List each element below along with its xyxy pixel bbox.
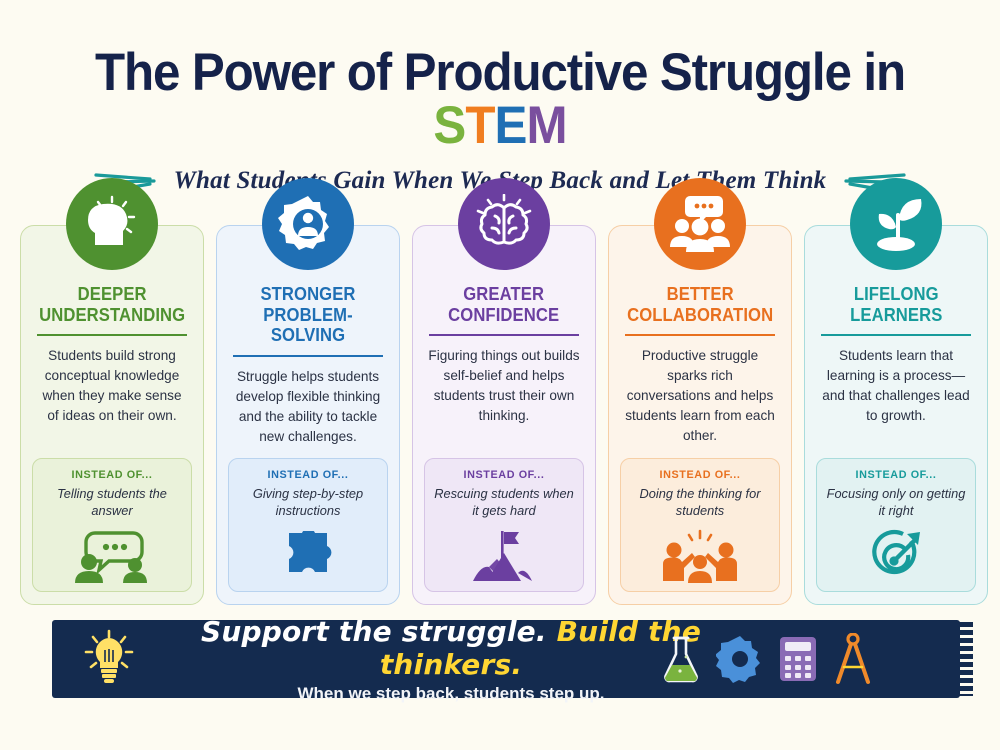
instead-of-box: INSTEAD OF... Focusing only on getting i… xyxy=(816,458,976,592)
footer-headline-white: Support the struggle. xyxy=(201,615,557,648)
card-title-line2: UNDERSTANDING xyxy=(39,304,185,325)
puzzle-piece-icon xyxy=(280,527,336,583)
group-speech-bubble-icon xyxy=(654,178,746,270)
footer-subline: When we step back, students step up. xyxy=(152,684,750,704)
instead-of-label: INSTEAD OF... xyxy=(72,469,153,481)
page-title: The Power of Productive Struggle in STEM xyxy=(35,46,965,152)
footer-icon-row xyxy=(660,633,874,685)
target-arrow-icon xyxy=(867,527,925,583)
card-title-line1: GREATER xyxy=(464,283,545,304)
brain-icon xyxy=(458,178,550,270)
instead-of-label: INSTEAD OF... xyxy=(856,469,937,481)
card-title: STRONGER PROBLEM-SOLVING xyxy=(237,284,379,346)
gear-icon xyxy=(716,635,764,683)
instead-of-box: INSTEAD OF... Rescuing students when it … xyxy=(424,458,584,592)
card-title-line1: BETTER xyxy=(666,283,733,304)
card-body: Productive struggle sparks rich conversa… xyxy=(621,346,779,446)
high-five-group-icon xyxy=(657,527,743,583)
card-body: Students build strong conceptual knowled… xyxy=(33,346,191,426)
instead-of-label: INSTEAD OF... xyxy=(268,469,349,481)
card-deeper-understanding[interactable]: DEEPER UNDERSTANDING Students build stro… xyxy=(20,225,204,605)
instead-of-label: INSTEAD OF... xyxy=(660,469,741,481)
title-divider xyxy=(821,334,971,336)
card-title: DEEPER UNDERSTANDING xyxy=(39,284,185,325)
card-body: Figuring things out builds self-belief a… xyxy=(425,346,583,426)
card-stronger-problem-solving[interactable]: STRONGER PROBLEM-SOLVING Struggle helps … xyxy=(216,225,400,605)
infographic-canvas: The Power of Productive Struggle in STEM… xyxy=(0,0,1000,750)
title-divider xyxy=(37,334,187,336)
instead-of-text: Focusing only on getting it right xyxy=(823,486,969,520)
card-title-line1: STRONGER xyxy=(260,283,355,304)
card-better-collaboration[interactable]: BETTER COLLABORATION Productive struggle… xyxy=(608,225,792,605)
card-title-line2: COLLABORATION xyxy=(627,304,773,325)
stem-acronym: STEM xyxy=(433,96,566,155)
card-title-line2: LEARNERS xyxy=(850,304,942,325)
stem-letter-s: S xyxy=(433,96,465,155)
calculator-icon xyxy=(778,635,818,683)
card-greater-confidence[interactable]: GREATER CONFIDENCE Figuring things out b… xyxy=(412,225,596,605)
sprout-icon xyxy=(850,178,942,270)
instead-of-text: Giving step-by-step instructions xyxy=(235,486,381,520)
footer-banner: Support the struggle. Build the thinkers… xyxy=(52,620,960,698)
instead-of-box: INSTEAD OF... Giving step-by-step instru… xyxy=(228,458,388,592)
instead-of-box: INSTEAD OF... Doing the thinking for stu… xyxy=(620,458,780,592)
title-divider xyxy=(625,334,775,336)
stem-letter-m: M xyxy=(526,96,566,155)
instead-of-label: INSTEAD OF... xyxy=(464,469,545,481)
card-title: GREATER CONFIDENCE xyxy=(449,284,560,325)
header: The Power of Productive Struggle in STEM… xyxy=(0,0,1000,196)
gear-person-icon xyxy=(262,178,354,270)
stem-letter-t: T xyxy=(465,96,494,155)
stem-letter-e: E xyxy=(495,96,527,155)
instead-of-box: INSTEAD OF... Telling students the answe… xyxy=(32,458,192,592)
two-people-speech-bubble-icon xyxy=(69,527,155,583)
title-divider xyxy=(233,355,383,357)
flask-icon xyxy=(660,635,702,683)
card-title-line1: DEEPER xyxy=(77,283,146,304)
head-lightbulb-icon xyxy=(66,178,158,270)
compass-icon xyxy=(832,633,874,685)
card-title-line2: CONFIDENCE xyxy=(449,304,560,325)
instead-of-text: Doing the thinking for students xyxy=(627,486,773,520)
card-title-line1: LIFELONG xyxy=(854,283,939,304)
card-title-line2: PROBLEM-SOLVING xyxy=(263,304,353,346)
title-main-text: The Power of Productive Struggle in xyxy=(95,43,905,102)
card-title: BETTER COLLABORATION xyxy=(627,284,773,325)
card-body: Students learn that learning is a proces… xyxy=(817,346,975,426)
card-title: LIFELONG LEARNERS xyxy=(850,284,942,325)
instead-of-text: Rescuing students when it gets hard xyxy=(431,486,577,520)
title-divider xyxy=(429,334,579,336)
card-body: Struggle helps students develop flexible… xyxy=(229,367,387,447)
card-lifelong-learners[interactable]: LIFELONG LEARNERS Students learn that le… xyxy=(804,225,988,605)
mountain-flag-icon xyxy=(471,527,537,583)
lightbulb-icon xyxy=(82,629,136,690)
instead-of-text: Telling students the answer xyxy=(39,486,185,520)
benefit-cards-row: DEEPER UNDERSTANDING Students build stro… xyxy=(20,225,980,605)
